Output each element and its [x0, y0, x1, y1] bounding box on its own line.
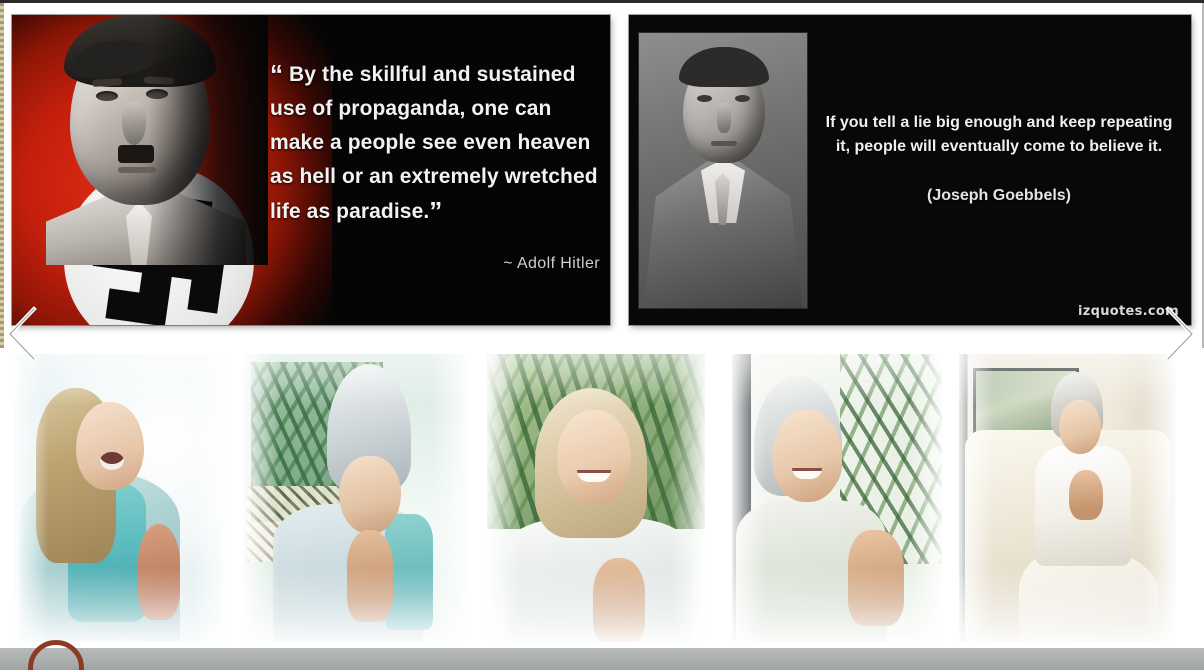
- thumbnail-item[interactable]: [243, 354, 468, 642]
- thumbnail-photo-laughing-woman: [14, 354, 226, 642]
- carousel-slide-hitler-quote[interactable]: “ By the skillful and sustained use of p…: [12, 15, 610, 325]
- thumbnail-photo-smiling-woman-garden: [487, 354, 705, 642]
- thumbnail-item[interactable]: [14, 354, 226, 642]
- thumbnail-item[interactable]: [959, 354, 1176, 642]
- carousel-slide-goebbels-quote[interactable]: If you tell a lie big enough and keep re…: [629, 15, 1191, 325]
- hitler-quote-block: “ By the skillful and sustained use of p…: [270, 57, 600, 273]
- carousel-prev-button[interactable]: [2, 303, 46, 365]
- hitler-quote-card: “ By the skillful and sustained use of p…: [12, 15, 610, 325]
- carousel-page: “ By the skillful and sustained use of p…: [0, 0, 1204, 670]
- thumbnail-photo-woman-on-sofa: [959, 354, 1176, 642]
- goebbels-quote-card: If you tell a lie big enough and keep re…: [629, 15, 1191, 325]
- joseph-goebbels-portrait: [639, 33, 807, 308]
- thumbnail-strip[interactable]: [0, 348, 1204, 648]
- chevron-right-icon: [1156, 303, 1200, 365]
- thumbnail-item[interactable]: [732, 354, 942, 642]
- thumbnail-item[interactable]: [487, 354, 705, 642]
- image-carousel[interactable]: “ By the skillful and sustained use of p…: [0, 3, 1204, 345]
- open-quote-mark: “: [270, 59, 283, 89]
- goebbels-quote-attribution: (Joseph Goebbels): [819, 187, 1179, 205]
- hitler-quote-text: “ By the skillful and sustained use of p…: [270, 57, 600, 229]
- thumbnail-photo-gesturing-woman: [732, 354, 942, 642]
- chevron-left-icon: [2, 303, 46, 365]
- hitler-quote-attribution: ~ Adolf Hitler: [270, 255, 600, 273]
- thumbnail-photo-praying-woman: [243, 354, 468, 642]
- close-quote-mark: ”: [429, 196, 442, 226]
- goebbels-quote-text: If you tell a lie big enough and keep re…: [819, 111, 1179, 159]
- carousel-next-button[interactable]: [1156, 303, 1200, 365]
- bottom-status-band: [0, 648, 1204, 670]
- adolf-hitler-portrait: [18, 15, 268, 265]
